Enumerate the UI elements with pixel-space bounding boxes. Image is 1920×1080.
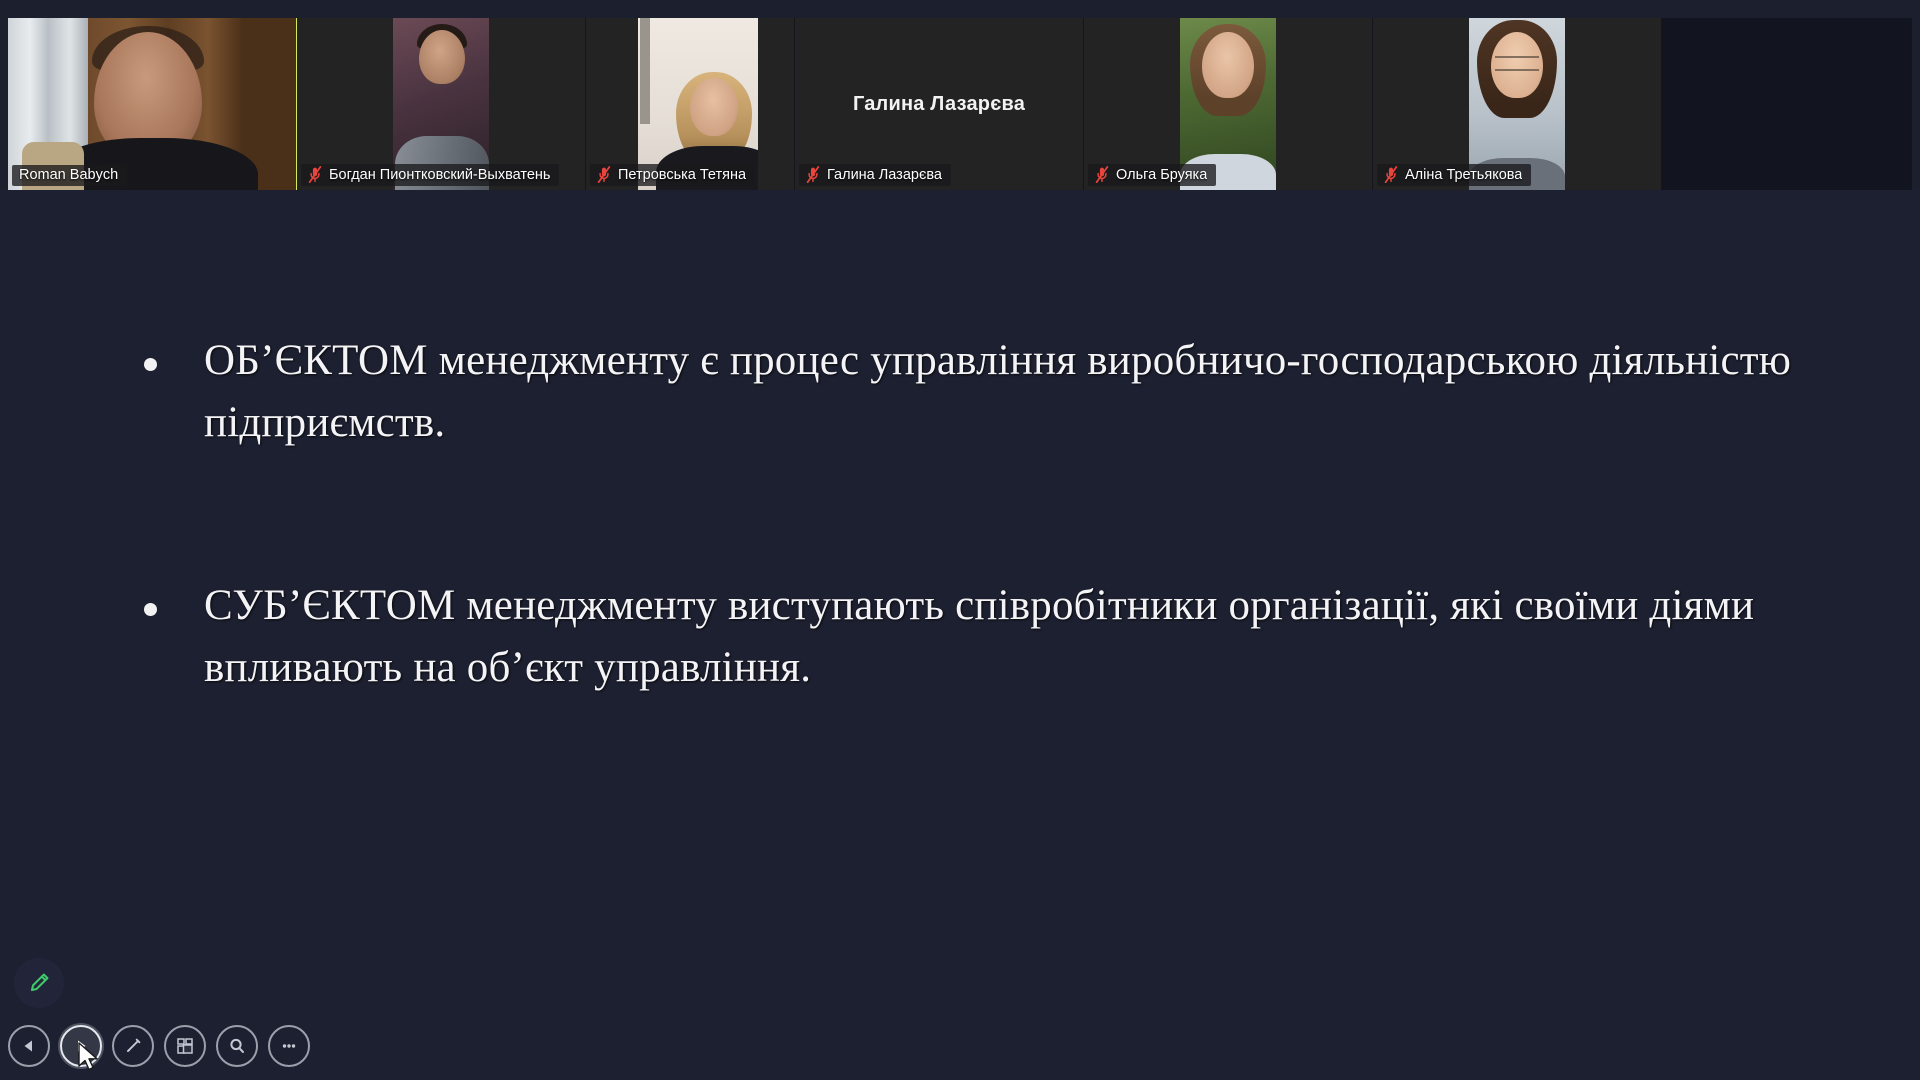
participant-display-name: Галина Лазарєва — [843, 93, 1035, 116]
slide-bullet-text: СУБ’ЄКТОМ менеджменту виступають співроб… — [204, 575, 1830, 700]
participant-name-label: Петровська Тетяна — [618, 167, 746, 183]
slide-bullet-text: ОБ’ЄКТОМ менеджменту є процес управління… — [204, 330, 1830, 455]
pen-icon — [122, 1035, 144, 1057]
previous-slide-button[interactable] — [8, 1025, 50, 1067]
participant-nameplate: Roman Babych — [12, 165, 127, 186]
pen-icon — [26, 970, 52, 996]
microphone-muted-icon — [308, 166, 322, 183]
participant-tile[interactable]: Богдан Пионтковский-Выхватень — [297, 18, 586, 190]
participant-tile[interactable]: Петровська Тетяна — [586, 18, 795, 190]
participant-nameplate: Петровська Тетяна — [590, 164, 755, 186]
bullet-dot-icon — [130, 330, 204, 371]
annotate-button[interactable] — [14, 958, 64, 1008]
grid-panels-icon — [175, 1036, 195, 1056]
microphone-muted-icon — [806, 166, 820, 183]
microphone-muted-icon — [1095, 166, 1109, 183]
slide-content: ОБ’ЄКТОМ менеджменту є процес управління… — [130, 330, 1830, 699]
participant-name-label: Аліна Третьякова — [1405, 167, 1522, 183]
slide-bullet: СУБ’ЄКТОМ менеджменту виступають співроб… — [130, 575, 1830, 700]
participant-tile[interactable]: Ольга Бруяка — [1084, 18, 1373, 190]
participant-name-label: Галина Лазарєва — [827, 167, 942, 183]
next-slide-button[interactable] — [60, 1025, 102, 1067]
participant-nameplate: Галина Лазарєва — [799, 164, 951, 186]
participant-tile[interactable]: Галина Лазарєва Галина Лазарєва — [795, 18, 1084, 190]
zoom-tool-button[interactable] — [216, 1025, 258, 1067]
participant-name-label: Богдан Пионтковский-Выхватень — [329, 167, 550, 183]
participant-nameplate: Богдан Пионтковский-Выхватень — [301, 164, 559, 186]
participant-nameplate: Аліна Третьякова — [1377, 164, 1531, 186]
slide-overview-button[interactable] — [164, 1025, 206, 1067]
microphone-muted-icon — [597, 166, 611, 183]
participant-name-label: Ольга Бруяка — [1116, 167, 1207, 183]
participant-filmstrip: Roman Babych Богдан Пионтковский-Выхвате… — [0, 0, 1920, 190]
slide-bullet: ОБ’ЄКТОМ менеджменту є процес управління… — [130, 330, 1830, 455]
pen-tool-button[interactable] — [112, 1025, 154, 1067]
triangle-left-icon — [21, 1038, 37, 1054]
participant-nameplate: Ольга Бруяка — [1088, 164, 1216, 186]
more-options-button[interactable] — [268, 1025, 310, 1067]
bullet-spacer — [130, 455, 1830, 575]
participant-tile[interactable]: Аліна Третьякова — [1373, 18, 1662, 190]
microphone-muted-icon — [1384, 166, 1398, 183]
magnifier-icon — [227, 1036, 247, 1056]
triangle-right-icon — [73, 1038, 89, 1054]
participant-name-label: Roman Babych — [19, 167, 118, 183]
bullet-dot-icon — [130, 575, 204, 616]
ellipsis-icon — [279, 1036, 299, 1056]
participant-tiles: Roman Babych Богдан Пионтковский-Выхвате… — [8, 18, 1912, 190]
shared-slide: ОБ’ЄКТОМ менеджменту є процес управління… — [0, 190, 1920, 1080]
participant-tile[interactable]: Roman Babych — [8, 18, 297, 190]
presentation-toolbar — [0, 1012, 1920, 1080]
